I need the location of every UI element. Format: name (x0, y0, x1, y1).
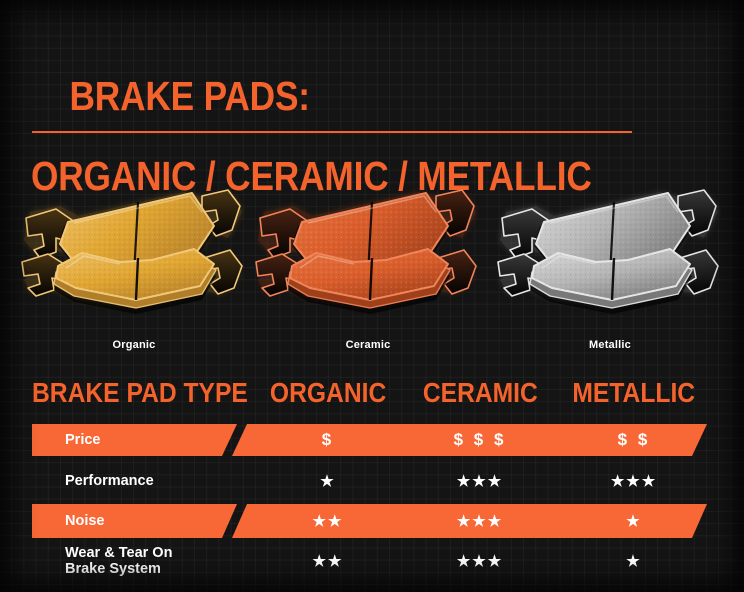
pad-illustration-organic: Organic (16, 176, 252, 336)
table-header-row: BRAKE PAD TYPE ORGANIC CERAMIC METALLIC (0, 378, 744, 412)
column-header-organic: ORGANIC (270, 378, 386, 408)
rating-cell: $ $ (618, 430, 651, 450)
row-content: Wear & Tear On Brake System★★★★★★ (0, 544, 744, 578)
column-header-type: BRAKE PAD TYPE (32, 378, 248, 408)
title-underline (32, 131, 632, 133)
row-label: Noise (65, 513, 105, 529)
title-line-1: BRAKE PADS: (69, 73, 309, 119)
pad-label: Organic (16, 339, 252, 351)
rating-cell: ★ (626, 512, 641, 530)
table-row: Wear & Tear On Brake System★★★★★★ (0, 544, 744, 578)
column-header-metallic: METALLIC (573, 378, 696, 408)
rating-cell: $ (322, 430, 334, 450)
pad-illustrations: Organic (0, 176, 744, 361)
comparison-table: BRAKE PAD TYPE ORGANIC CERAMIC METALLIC … (0, 378, 744, 578)
rating-cell: ★★★ (457, 552, 503, 570)
table-row: Price$$ $ $$ $ (0, 424, 744, 456)
rating-cell: ★★★ (457, 472, 503, 490)
rating-cell: $ $ $ (454, 430, 507, 450)
pad-label: Metallic (492, 339, 728, 351)
brake-pad-icon (250, 176, 486, 336)
row-label: Price (65, 432, 100, 448)
row-label: Wear & Tear On Brake System (65, 545, 172, 577)
table-row: Noise★★★★★★ (0, 504, 744, 538)
row-content: Performance★★★★★★★ (0, 466, 744, 496)
column-header-ceramic: CERAMIC (422, 378, 537, 408)
brake-pad-icon (492, 176, 728, 336)
pad-label: Ceramic (250, 339, 486, 351)
row-label: Performance (65, 473, 154, 489)
rating-cell: ★★ (313, 512, 344, 530)
table-row: Performance★★★★★★★ (0, 466, 744, 496)
rating-cell: ★ (626, 552, 641, 570)
rating-cell: ★★ (313, 552, 344, 570)
rating-cell: ★ (320, 472, 335, 490)
row-content: Price$$ $ $$ $ (0, 424, 744, 456)
pad-illustration-metallic: Metallic (492, 176, 728, 336)
pad-illustration-ceramic: Ceramic (250, 176, 486, 336)
brake-pad-icon (16, 176, 252, 336)
rating-cell: ★★★ (611, 472, 657, 490)
rating-cell: ★★★ (457, 512, 503, 530)
row-content: Noise★★★★★★ (0, 504, 744, 538)
infographic-canvas: BRAKE PADS: ORGANIC / CERAMIC / METALLIC (0, 0, 744, 592)
